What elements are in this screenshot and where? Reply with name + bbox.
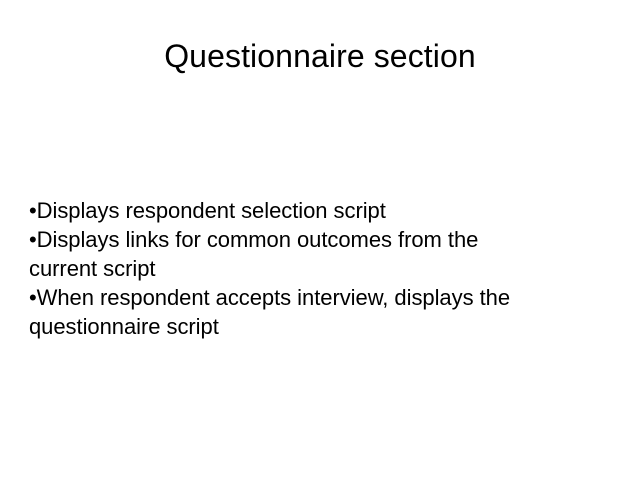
bullet-icon: • bbox=[29, 198, 37, 223]
list-item: •Displays respondent selection script bbox=[29, 196, 619, 225]
list-item: •When respondent accepts interview, disp… bbox=[29, 283, 619, 312]
bullet-list: •Displays respondent selection script •D… bbox=[29, 196, 619, 341]
list-item-label: When respondent accepts interview, displ… bbox=[37, 285, 510, 310]
list-item-continuation: questionnaire script bbox=[29, 312, 619, 341]
list-item: •Displays links for common outcomes from… bbox=[29, 225, 619, 254]
list-item-label: Displays respondent selection script bbox=[37, 198, 386, 223]
page-title: Questionnaire section bbox=[0, 36, 640, 76]
list-item-continuation: current script bbox=[29, 254, 619, 283]
slide-canvas: Questionnaire section •Displays responde… bbox=[0, 0, 640, 480]
bullet-icon: • bbox=[29, 227, 37, 252]
bullet-icon: • bbox=[29, 285, 37, 310]
list-item-label: Displays links for common outcomes from … bbox=[37, 227, 479, 252]
